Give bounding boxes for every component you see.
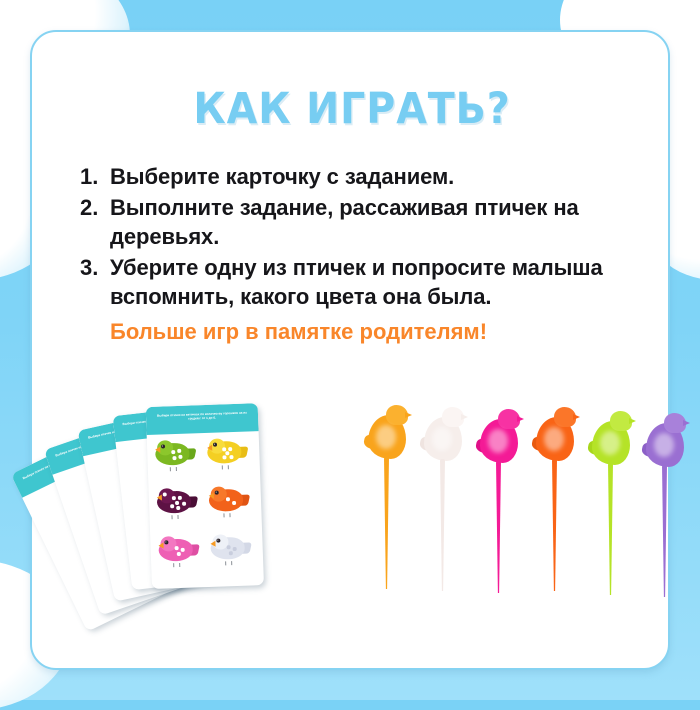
- task-card-bird-grid: [147, 433, 264, 582]
- card-bird-yellow: [207, 438, 248, 466]
- bird-icon: [476, 403, 526, 479]
- step-text: Выберите карточку с заданием.: [110, 162, 454, 191]
- step-text: Уберите одну из птичек и попросите малыш…: [110, 253, 640, 311]
- bird-icon: [642, 407, 692, 483]
- card-bird-purple: [157, 487, 198, 515]
- task-card-front: Выбери птичек на веточках по количеству …: [146, 403, 264, 589]
- amber-bird-pick: [364, 399, 418, 594]
- list-item: 3. Уберите одну из птичек и попросите ма…: [80, 253, 640, 311]
- card-bird-green: [155, 439, 196, 467]
- step-text: Выполните задание, рассаживая птичек на …: [110, 193, 640, 251]
- orange-bird-pick: [532, 401, 586, 596]
- card-bird-pink: [158, 535, 199, 563]
- task-card-header-text: Выбери птичек на веточках по количеству …: [146, 403, 258, 423]
- card-bird-white: [210, 533, 251, 561]
- card-bird-orange: [209, 486, 250, 514]
- callout-text: Больше игр в памятке родителям!: [110, 317, 640, 346]
- product-photo: Выбери птичек на веточках по количеству …: [72, 382, 692, 612]
- step-number: 3.: [80, 253, 110, 282]
- step-number: 2.: [80, 193, 110, 222]
- bird-icon: [588, 405, 638, 481]
- content-card: КАК ИГРАТЬ? 1. Выберите карточку с задан…: [30, 30, 670, 670]
- bird-icon: [420, 401, 470, 477]
- page-title: КАК ИГРАТЬ?: [58, 84, 647, 134]
- step-number: 1.: [80, 162, 110, 191]
- task-card-header: Выбери птичек на веточках по количеству …: [146, 403, 259, 435]
- instruction-list: 1. Выберите карточку с заданием. 2. Выпо…: [80, 162, 640, 346]
- lime-bird-pick: [588, 405, 642, 600]
- bird-icon: [364, 399, 414, 475]
- list-item: 2. Выполните задание, рассаживая птичек …: [80, 193, 640, 251]
- task-card-stack: Выбери птичек на веточках по количеству …: [82, 387, 362, 612]
- list-item: 1. Выберите карточку с заданием.: [80, 162, 640, 191]
- purple-bird-pick: [642, 407, 696, 602]
- white-bird-pick: [420, 401, 474, 596]
- bird-icon: [532, 401, 582, 477]
- magenta-bird-pick: [476, 403, 530, 598]
- bird-picks-row: [362, 387, 692, 607]
